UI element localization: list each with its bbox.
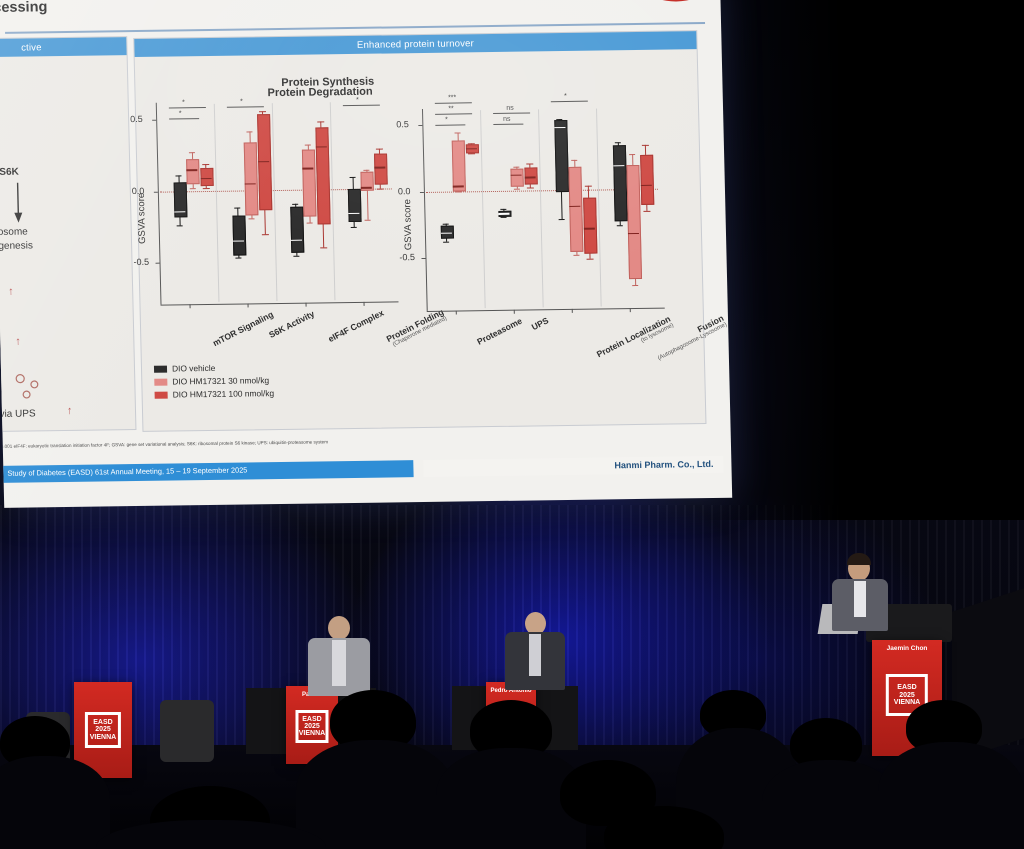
x-category-label: mTOR Signaling — [211, 309, 275, 348]
significance-bar — [493, 124, 523, 125]
projected-slide: activation oteomics revealed that HM1732… — [0, 0, 732, 508]
boxplot-median — [641, 184, 652, 186]
boxplot-box — [302, 149, 317, 217]
boxplot-box — [613, 145, 628, 222]
boxplot-cap — [318, 122, 324, 123]
significance-label: * — [182, 99, 185, 106]
boxplot-median — [187, 169, 198, 171]
boxplot-chart-1: Protein SynthesisGSVA score-0.50.00.5mTO… — [156, 99, 394, 374]
boxplot-cap — [350, 177, 356, 178]
boxplot-median — [570, 205, 581, 207]
boxplot-median — [613, 165, 624, 167]
boxplot-cap — [351, 227, 357, 228]
category-separator — [480, 110, 486, 308]
significance-bar — [227, 106, 264, 108]
boxplot-cap — [454, 132, 460, 133]
speaker-nameplate: Jaemin Chon — [887, 645, 928, 652]
boxplot-box — [347, 189, 361, 223]
boxplot-cap — [642, 144, 648, 145]
conference-hall-scene: activation oteomics revealed that HM1732… — [0, 0, 1024, 849]
boxplot-median — [511, 174, 522, 176]
speaker-shirt — [854, 581, 866, 617]
x-tick — [456, 311, 457, 315]
easd-logo-left: EASD2025VIENNA — [295, 710, 328, 743]
boxplot-median — [466, 148, 477, 150]
boxplot-median — [441, 233, 452, 235]
category-separator — [596, 109, 602, 307]
boxplot-cap — [364, 220, 370, 221]
node-ups-degradation: led proteins via UPS — [0, 408, 36, 420]
boxplot-cap — [632, 285, 638, 286]
legend-item: DIO vehicle — [154, 362, 274, 374]
node-s6k: S6K — [0, 167, 19, 178]
y-tick-label: 0.0 — [398, 186, 411, 196]
significance-bar — [435, 113, 472, 115]
y-tick-label: 0.5 — [396, 119, 409, 129]
boxplot-cap — [234, 207, 240, 208]
audience-shoulders — [878, 742, 1024, 849]
x-category-label: Proteasome — [475, 316, 523, 347]
boxplot-median — [628, 233, 639, 235]
boxplot-cap — [304, 145, 310, 146]
boxplot-cap — [629, 154, 635, 155]
significance-bar — [343, 105, 380, 107]
boxplot-box — [640, 155, 654, 205]
x-category-label: S6K Activity — [267, 309, 316, 340]
boxplot-box — [290, 207, 304, 254]
boxplot-cap — [443, 242, 449, 243]
legend-label-30: DIO HM17321 30 nmol/kg — [172, 375, 269, 386]
boxplot-median — [348, 213, 359, 215]
boxplot-cap — [585, 185, 591, 186]
legend-label-100: DIO HM17321 100 nmol/kg — [173, 388, 275, 399]
y-axis — [422, 109, 428, 311]
y-tick — [420, 192, 424, 193]
boxplot-median — [554, 127, 565, 129]
y-tick — [421, 258, 425, 259]
y-tick-label: -0.5 — [399, 252, 415, 262]
x-tick — [514, 310, 515, 314]
legend-item: DIO HM17321 100 nmol/kg — [155, 388, 275, 400]
x-category-label: eIF4F Complex — [326, 308, 385, 344]
boxplot-cap — [513, 166, 519, 167]
node-biogenesis: biogenesis — [0, 240, 33, 252]
boxplot-box — [315, 127, 330, 224]
boxplot-box — [186, 159, 200, 184]
y-tick — [418, 125, 422, 126]
legend-item: DIO HM17321 30 nmol/kg — [154, 375, 274, 387]
boxplot-cap — [203, 188, 209, 189]
boxplot-cap — [617, 225, 623, 226]
boxplot-cap — [468, 154, 474, 155]
significance-label: ns — [503, 116, 511, 123]
x-tick — [248, 303, 249, 307]
boxplot-cap — [259, 111, 265, 112]
boxplot-median — [245, 183, 256, 185]
significance-bar — [169, 107, 206, 109]
y-tick-label: 0.0 — [132, 186, 145, 196]
boxplot-cap — [587, 259, 593, 260]
audience-shoulders — [0, 756, 110, 849]
x-tick — [190, 304, 191, 308]
boxplot-box — [554, 120, 569, 191]
x-tick — [305, 303, 306, 307]
boxplot-median — [200, 178, 211, 180]
hanmi-logo: Hanmi — [650, 0, 702, 2]
panelist-right-shirt — [529, 634, 541, 676]
boxplot-median — [316, 146, 327, 148]
boxplot-cap — [559, 219, 565, 220]
pathway-panel: ctive Akt OR ) S6K Ribosome biogenesis s… — [0, 36, 136, 433]
legend-swatch-100 — [155, 391, 168, 398]
boxplot-median — [374, 167, 385, 169]
boxplot-cap — [292, 204, 298, 205]
mtor-pathway-diagram: Akt OR ) S6K Ribosome biogenesis slation… — [0, 55, 136, 450]
boxplot-cap — [527, 187, 533, 188]
y-tick — [154, 191, 158, 192]
significance-bar — [551, 101, 588, 103]
boxplot-cap — [644, 211, 650, 212]
y-axis-label: GSVA score — [402, 199, 414, 250]
boxplot-cap — [293, 255, 299, 256]
boxplot-box — [232, 216, 246, 255]
protein-blob-icons — [0, 368, 65, 406]
category-separator — [214, 104, 220, 302]
y-tick-label: -0.5 — [133, 257, 149, 267]
significance-bar — [435, 102, 472, 104]
significance-label: ns — [506, 105, 514, 112]
boxplot-cap — [189, 188, 195, 189]
boxplot-cap — [377, 188, 383, 189]
x-category-label: UPS — [530, 315, 550, 332]
significance-label: * — [179, 110, 182, 117]
boxplot-cap — [443, 223, 449, 224]
y-axis-label: GSVA score — [136, 193, 148, 244]
panelist-left-shirt — [332, 640, 346, 686]
up-arrow-icon-ups: ↑ — [67, 405, 73, 417]
boxplot-box — [583, 197, 597, 254]
node-ribosome: Ribosome — [0, 227, 28, 239]
significance-label: *** — [448, 95, 456, 102]
legend-swatch-vehicle — [154, 365, 167, 372]
boxplot-cap — [176, 175, 182, 176]
boxplot-box — [374, 154, 388, 185]
boxplot-median — [303, 168, 314, 170]
boxplot-cap — [246, 131, 252, 132]
boxplot-median — [453, 186, 464, 188]
y-tick — [152, 120, 156, 121]
boxplot-box — [524, 167, 537, 184]
x-tick — [363, 302, 364, 306]
boxplot-box — [244, 143, 259, 215]
category-separator — [330, 102, 336, 300]
significance-label: * — [564, 93, 567, 100]
category-separator — [538, 109, 544, 307]
boxplot-cap — [376, 148, 382, 149]
significance-bar — [435, 124, 465, 125]
boxplot-cap — [527, 163, 533, 164]
boxplot-median — [233, 240, 244, 242]
up-arrow-icon-translation: ↑ — [8, 286, 14, 298]
chart-legend: DIO vehicle DIO HM17321 30 nmol/kg DIO H… — [154, 362, 274, 403]
slide-title-tail: ocessing — [0, 0, 48, 19]
boxplot-median — [584, 228, 595, 230]
boxplot-cap — [203, 163, 209, 164]
slide-footer-right-text: Hanmi Pharm. Co., Ltd. — [614, 459, 713, 470]
audience-shoulders — [296, 740, 454, 849]
boxplot-box — [452, 140, 466, 191]
boxplot-box — [569, 167, 584, 252]
arrow-s6k-to-ribosome — [12, 183, 25, 225]
significance-label: * — [445, 117, 448, 124]
boxplot-median — [498, 213, 509, 215]
chart-title: Protein Degradation — [267, 86, 372, 99]
boxplot-cap — [573, 255, 579, 256]
boxplot-cap — [248, 219, 254, 220]
significance-bar — [493, 112, 530, 114]
x-tick — [630, 308, 631, 312]
boxplot-box — [511, 169, 524, 187]
y-axis — [156, 103, 162, 305]
legend-label-vehicle: DIO vehicle — [172, 363, 216, 374]
boxplot-cap — [615, 142, 621, 143]
empty-chair — [160, 700, 214, 762]
boxplot-cap — [177, 225, 183, 226]
boxplot-cap — [235, 257, 241, 258]
boxplot-cap — [262, 234, 268, 235]
boxplot-median — [174, 211, 185, 213]
right-wall-shadow — [694, 0, 1024, 520]
boxplot-median — [291, 239, 302, 241]
boxplot-median — [258, 161, 269, 163]
boxplot-cap — [571, 160, 577, 161]
category-separator — [272, 103, 278, 301]
y-tick-label: 0.5 — [130, 114, 143, 124]
significance-label: * — [356, 97, 359, 104]
up-arrow-icon-folding: ↑ — [15, 336, 21, 348]
significance-label: * — [240, 99, 243, 106]
easd-logo-podium-left: EASD2025VIENNA — [85, 712, 121, 748]
boxplot-cap — [501, 217, 507, 218]
boxplot-cap — [321, 248, 327, 249]
boxplot-cap — [306, 222, 312, 223]
boxplot-median — [525, 177, 536, 179]
boxplot-box — [200, 168, 213, 186]
panelist-left-head — [328, 616, 350, 640]
boxplot-cap — [514, 189, 520, 190]
y-tick — [156, 263, 160, 264]
boxplot-cap — [189, 152, 195, 153]
x-tick — [572, 309, 573, 313]
significance-bar — [169, 118, 199, 119]
slide-title: activation oteomics revealed that HM1732… — [22, 0, 682, 2]
significance-label: ** — [448, 106, 454, 113]
boxplot-median — [361, 187, 372, 189]
protein-turnover-panel: Enhanced protein turnover Protein Synthe… — [133, 30, 706, 432]
boxplot-chart-2: Protein DegradationGSVA score-0.50.00.5P… — [422, 106, 660, 381]
legend-swatch-30 — [154, 378, 167, 385]
